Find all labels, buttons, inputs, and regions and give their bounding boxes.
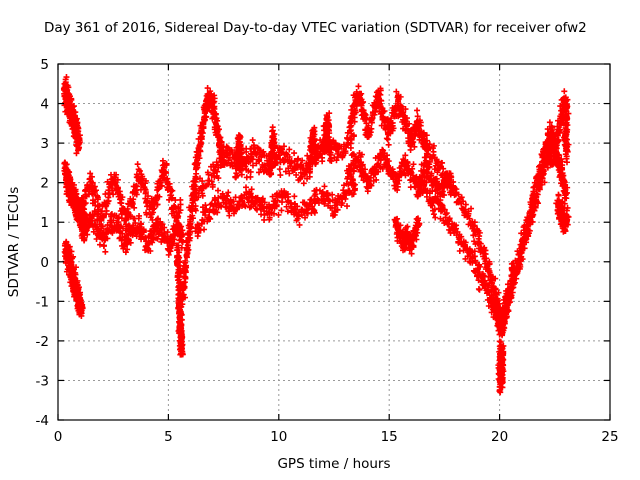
- y-tick-label: -1: [36, 294, 49, 310]
- y-tick-label: 5: [40, 57, 49, 73]
- chart-figure: Day 361 of 2016, Sidereal Day-to-day VTE…: [0, 0, 640, 480]
- x-tick-label: 0: [54, 429, 63, 445]
- y-tick-label: 3: [40, 136, 49, 152]
- x-tick-label: 25: [601, 429, 618, 445]
- x-axis-label: GPS time / hours: [277, 456, 390, 472]
- data-markers: [61, 74, 572, 395]
- scatter-plot: -4-3-2-10123450510152025 GPS time / hour…: [0, 0, 640, 480]
- y-tick-label: 2: [40, 176, 49, 192]
- x-tick-label: 5: [164, 429, 173, 445]
- x-tick-label: 20: [491, 429, 508, 445]
- x-tick-label: 15: [381, 429, 398, 445]
- y-tick-label: 1: [40, 215, 49, 231]
- y-tick-label: 0: [40, 255, 49, 271]
- y-tick-label: -4: [36, 413, 49, 429]
- y-tick-label: -2: [36, 334, 49, 350]
- x-tick-label: 10: [270, 429, 287, 445]
- y-axis-label: SDTVAR / TECUs: [6, 187, 22, 297]
- y-tick-label: -3: [36, 373, 49, 389]
- y-tick-label: 4: [40, 97, 49, 113]
